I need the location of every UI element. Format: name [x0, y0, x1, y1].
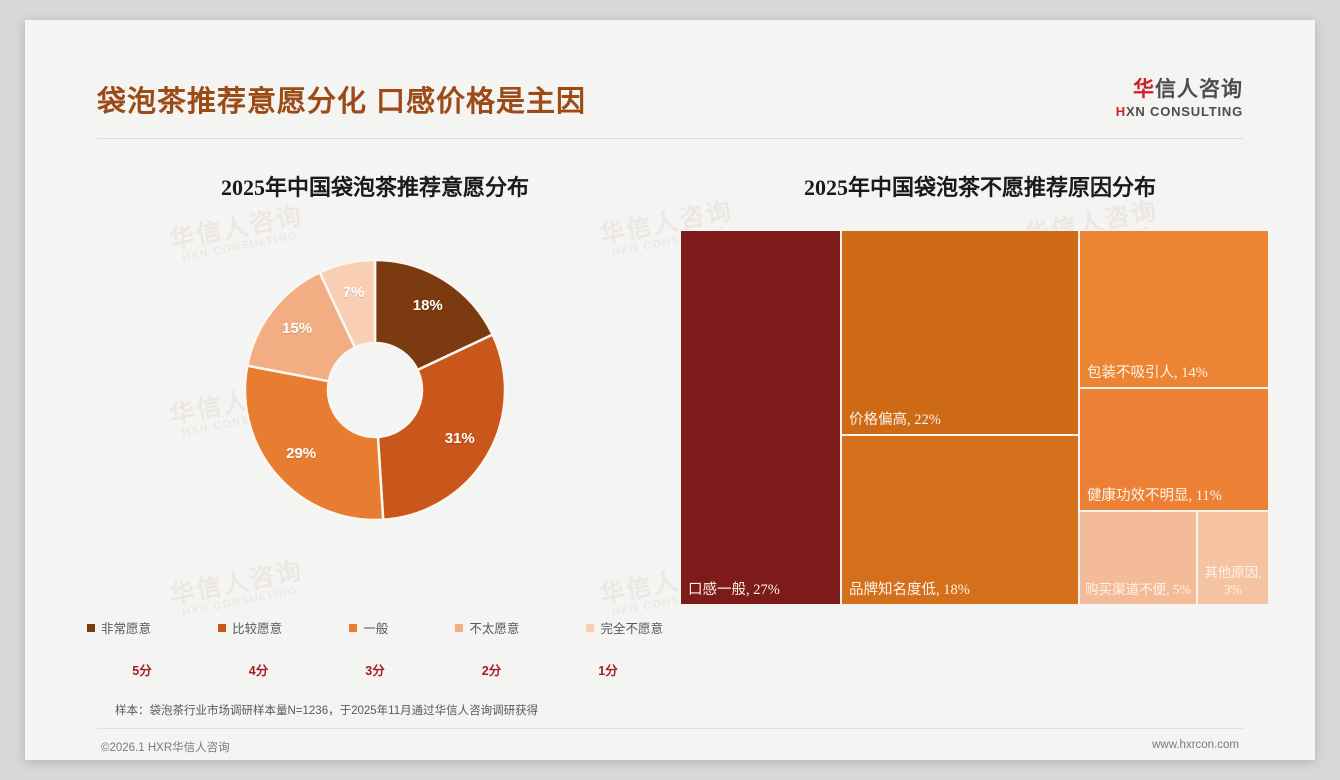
donut-svg: [210, 225, 540, 555]
donut-legend-label: 非常愿意: [101, 618, 151, 637]
donut-legend-label: 完全不愿意: [600, 618, 663, 637]
sample-note: 样本：袋泡茶行业市场调研样本量N=1236，于2025年11月通过华信人咨询调研…: [115, 702, 538, 718]
donut-legend-item-3[interactable]: 不太愿意: [455, 618, 519, 637]
treemap-cell-6[interactable]: 其他原因, 3%: [1197, 511, 1269, 605]
treemap-cell-4[interactable]: 健康功效不明显, 11%: [1079, 388, 1269, 511]
treemap-cell-5[interactable]: 购买渠道不便, 5%: [1079, 511, 1197, 605]
footer-website: www.hxrcon.com: [1152, 739, 1239, 751]
donut-score-label-0: 5分: [87, 660, 197, 679]
treemap-cell-label: 健康功效不明显, 11%: [1087, 487, 1263, 505]
treemap-chart-title: 2025年中国袋泡茶不愿推荐原因分布: [680, 170, 1280, 202]
page-title: 袋泡茶推荐意愿分化 口感价格是主因: [97, 78, 586, 120]
slide-header: 袋泡茶推荐意愿分化 口感价格是主因 华信人咨询 HXN CONSULTING: [25, 20, 1315, 120]
logo-cn: 华信人咨询: [1116, 78, 1243, 102]
treemap-cell-label: 购买渠道不便, 5%: [1083, 582, 1193, 599]
legend-swatch-icon: [87, 624, 95, 632]
logo-en: HXN CONSULTING: [1116, 104, 1243, 119]
donut-slice-label-2: 29%: [281, 445, 321, 462]
donut-score-label-4: 1分: [553, 660, 663, 679]
donut-legend: 非常愿意比较愿意一般不太愿意完全不愿意: [87, 618, 663, 637]
treemap-chart-panel: 2025年中国袋泡茶不愿推荐原因分布 口感一般, 27%价格偏高, 22%品牌知…: [680, 170, 1280, 670]
donut-chart-title: 2025年中国袋泡茶推荐意愿分布: [75, 170, 675, 202]
donut-legend-item-1[interactable]: 比较愿意: [218, 618, 282, 637]
logo-en-red: H: [1116, 104, 1126, 119]
donut-score-label-3: 2分: [437, 660, 547, 679]
donut-legend-label: 一般: [363, 618, 388, 637]
donut-slice-label-4: 7%: [334, 284, 374, 301]
donut-score-row: 5分4分3分2分1分: [87, 660, 663, 679]
legend-swatch-icon: [586, 624, 594, 632]
logo-cn-rest: 信人咨询: [1155, 78, 1243, 101]
donut-legend-item-0[interactable]: 非常愿意: [87, 618, 151, 637]
treemap-cell-2[interactable]: 品牌知名度低, 18%: [841, 435, 1079, 605]
donut-score-label-1: 4分: [204, 660, 314, 679]
donut-legend-label: 比较愿意: [232, 618, 282, 637]
legend-swatch-icon: [218, 624, 226, 632]
logo-cn-red: 华: [1133, 78, 1155, 101]
footer-divider: [97, 728, 1243, 729]
treemap-cell-3[interactable]: 包装不吸引人, 14%: [1079, 230, 1269, 388]
brand-logo: 华信人咨询 HXN CONSULTING: [1116, 78, 1243, 119]
slide: 华信人咨询 HXN CONSULTING 华信人咨询 HXN CONSULTIN…: [25, 20, 1315, 760]
donut-slice-label-0: 18%: [408, 297, 448, 314]
donut-chart-area: 18%31%29%15%7%: [75, 230, 675, 540]
legend-swatch-icon: [455, 624, 463, 632]
treemap-cell-label: 价格偏高, 22%: [849, 411, 1073, 429]
legend-swatch-icon: [349, 624, 357, 632]
footer-copyright: ©2026.1 HXR华信人咨询: [101, 739, 230, 755]
donut-legend-item-2[interactable]: 一般: [349, 618, 388, 637]
donut-legend-item-4[interactable]: 完全不愿意: [586, 618, 663, 637]
donut-legend-label: 不太愿意: [469, 618, 519, 637]
treemap-cell-0[interactable]: 口感一般, 27%: [680, 230, 841, 605]
header-divider: [97, 138, 1243, 139]
donut-slice-label-3: 15%: [277, 320, 317, 337]
donut-slice-label-1: 31%: [440, 430, 480, 447]
donut-chart-panel: 2025年中国袋泡茶推荐意愿分布 18%31%29%15%7% 非常愿意比较愿意…: [75, 170, 675, 690]
donut-slice-1[interactable]: [378, 335, 505, 520]
treemap-area: 口感一般, 27%价格偏高, 22%品牌知名度低, 18%包装不吸引人, 14%…: [680, 230, 1269, 605]
treemap-cell-1[interactable]: 价格偏高, 22%: [841, 230, 1079, 435]
donut-slice-2[interactable]: [245, 366, 383, 520]
treemap-cell-label: 包装不吸引人, 14%: [1087, 364, 1263, 382]
treemap-cell-label: 口感一般, 27%: [688, 581, 835, 599]
treemap-cell-label: 其他原因, 3%: [1201, 565, 1265, 599]
donut-score-label-2: 3分: [320, 660, 430, 679]
logo-en-rest: XN CONSULTING: [1126, 104, 1243, 119]
treemap-cell-label: 品牌知名度低, 18%: [849, 581, 1073, 599]
